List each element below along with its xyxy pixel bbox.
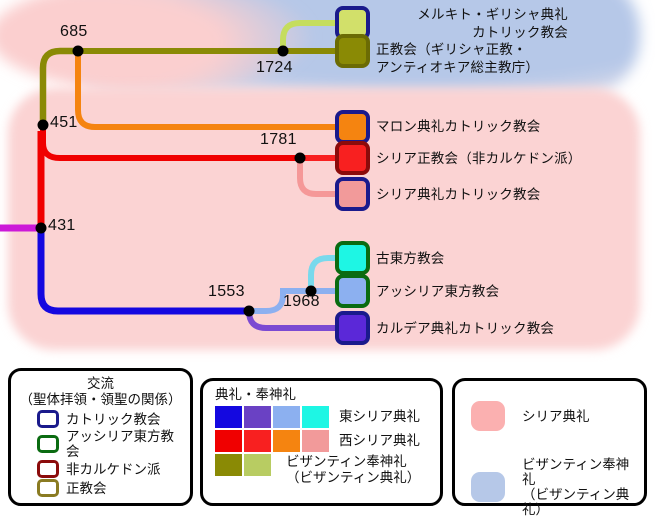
branch-syriac-catholic — [300, 158, 336, 194]
leaf-swatch-chaldean — [337, 313, 368, 343]
node-label-1781: 1781 — [260, 131, 297, 149]
legend-communion-title: 交流 （聖体拝領・領聖の関係） — [19, 376, 182, 408]
node-label-431: 431 — [48, 217, 76, 235]
legend-rites-panel: 典礼・奉神礼 東シリア典礼 西シリア典礼 ビザンティン奉神礼 （ビザンティン典礼… — [200, 378, 443, 506]
legend-region-item-syriac: シリア典礼 — [471, 401, 634, 431]
communion-label-assyrian: アッシリア東方教会 — [66, 429, 182, 459]
node-dot-1781 — [295, 153, 306, 164]
node-label-451: 451 — [50, 114, 78, 132]
leaf-swatches — [337, 8, 368, 343]
node-label-1968: 1968 — [283, 293, 320, 311]
communion-label-catholic: カトリック教会 — [66, 412, 161, 427]
legend-rites-title: 典礼・奉神礼 — [215, 387, 432, 403]
rite-swatch-byz-2 — [244, 454, 271, 476]
leaf-swatch-melkite — [337, 8, 368, 38]
region-label-syriac: シリア典礼 — [522, 409, 590, 424]
node-label-685: 685 — [60, 23, 88, 41]
node-dot-685 — [73, 46, 84, 57]
node-dot-1724 — [278, 46, 289, 57]
diagram-canvas: 685 1724 451 1781 431 1553 1968 メルキト・ギリシ… — [0, 0, 655, 512]
node-label-1724: 1724 — [256, 59, 293, 77]
legend-rites-row-byzantine: ビザンティン奉神礼 （ビザンティン典礼） — [215, 454, 432, 486]
region-swatch-byzantine — [471, 472, 505, 502]
leaf-label-ancient-east: 古東方教会 — [376, 250, 445, 267]
legend-region-item-byzantine: ビザンティン奉神礼 （ビザンティン典礼） — [471, 457, 634, 517]
leaf-swatch-orthodox — [337, 36, 368, 66]
rite-label-byzantine: ビザンティン奉神礼 （ビザンティン典礼） — [286, 454, 420, 486]
legend-communion-item-assyrian: アッシリア東方教会 — [37, 429, 182, 459]
region-label-byzantine: ビザンティン奉神礼 （ビザンティン典礼） — [522, 457, 634, 517]
leaf-label-maronite: マロン典礼カトリック教会 — [376, 118, 540, 135]
communion-swatch-catholic — [37, 410, 59, 428]
leaf-swatch-ancient-east — [337, 243, 368, 273]
rite-swatch-byz-1 — [215, 454, 242, 476]
legend-communion-panel: 交流 （聖体拝領・領聖の関係） カトリック教会 アッシリア東方教会 非カルケドン… — [8, 368, 193, 506]
rite-swatch-east-1 — [215, 406, 242, 428]
rite-swatch-west-2 — [244, 430, 271, 452]
legend-communion-item-nonchalcedonian: 非カルケドン派 — [37, 460, 182, 478]
leaf-label-syriac-catholic: シリア典礼カトリック教会 — [376, 186, 540, 203]
leaf-swatch-assyrian-east — [337, 276, 368, 306]
leaf-swatch-maronite — [337, 112, 368, 142]
leaf-label-chaldean: カルデア典礼カトリック教会 — [376, 320, 554, 337]
legend-rites-row-west: 西シリア典礼 — [215, 430, 432, 452]
communion-label-nonchalcedonian: 非カルケドン派 — [66, 462, 161, 477]
leaf-label-melkite: メルキト・ギリシャ典礼 カトリック教会 — [376, 6, 568, 42]
communion-label-orthodox: 正教会 — [66, 481, 107, 496]
rite-swatch-west-4 — [302, 430, 329, 452]
leaf-label-orthodox: 正教会（ギリシャ正教・ アンティオキア総主教庁） — [376, 41, 655, 77]
rite-swatch-east-4 — [302, 406, 329, 428]
rite-swatch-west-3 — [273, 430, 300, 452]
node-label-1553: 1553 — [208, 283, 245, 301]
legend-regions-panel: シリア典礼 ビザンティン奉神礼 （ビザンティン典礼） — [452, 378, 647, 506]
rite-swatch-east-3 — [273, 406, 300, 428]
branch-melkite — [283, 23, 336, 51]
leaf-swatch-syriac-orthodox — [337, 143, 368, 173]
node-dot-1553 — [244, 306, 255, 317]
legend-communion-item-catholic: カトリック教会 — [37, 410, 182, 428]
communion-swatch-assyrian — [37, 435, 59, 453]
communion-swatch-nonchalcedonian — [37, 460, 59, 478]
region-swatch-syriac — [471, 401, 505, 431]
branch-ancient-east — [311, 258, 336, 291]
rite-swatch-east-2 — [244, 406, 271, 428]
leaf-label-assyrian-east: アッシリア東方教会 — [376, 283, 499, 300]
rite-label-west-syriac: 西シリア典礼 — [339, 433, 420, 449]
communion-swatch-orthodox — [37, 479, 59, 497]
branch-maronite — [78, 51, 336, 127]
legend-rites-row-east: 東シリア典礼 — [215, 406, 432, 428]
node-dot-431 — [36, 223, 47, 234]
rite-label-east-syriac: 東シリア典礼 — [339, 409, 420, 425]
leaf-swatch-syriac-catholic — [337, 179, 368, 209]
legend-communion-item-orthodox: 正教会 — [37, 479, 182, 497]
rite-swatch-west-1 — [215, 430, 242, 452]
node-dot-451 — [38, 120, 49, 131]
leaf-label-syriac-orthodox: シリア正教会（非カルケドン派） — [376, 150, 582, 167]
